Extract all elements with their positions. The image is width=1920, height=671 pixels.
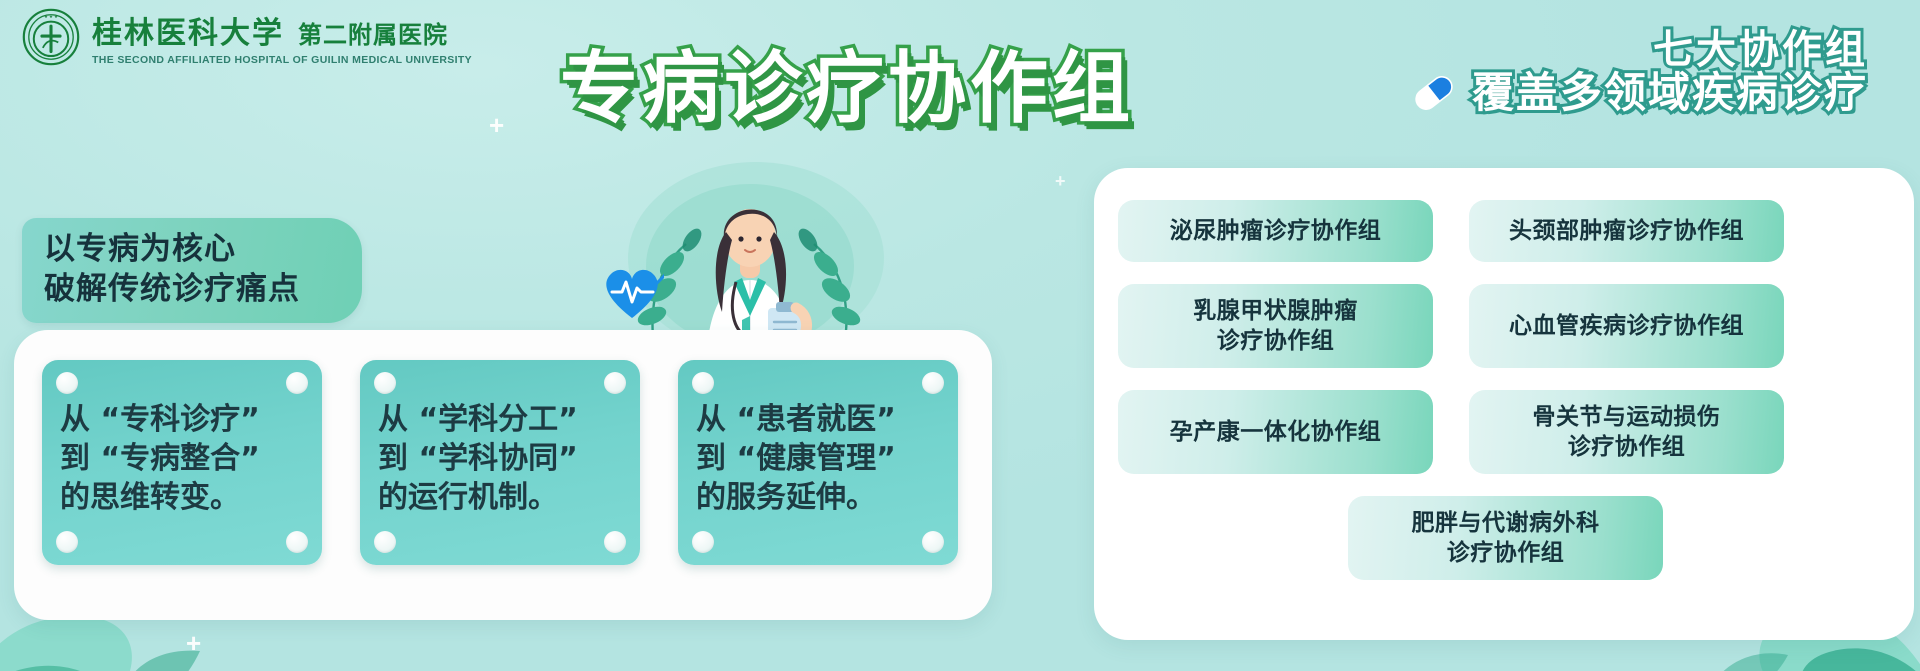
team-tag[interactable]: 肥胖与代谢病外科 诊疗协作组	[1348, 496, 1663, 580]
corner-screw-dot-icon	[604, 372, 626, 394]
plus-mark-icon-3: +	[1055, 172, 1066, 190]
concept-card[interactable]: 从 “学科分工” 到 “学科协同” 的运行机制。	[360, 360, 640, 565]
corner-screw-dot-icon	[56, 531, 78, 553]
corner-screw-dot-icon	[692, 372, 714, 394]
corner-screw-dot-icon	[374, 531, 396, 553]
slogan-line1: 以专病为核心	[44, 230, 300, 270]
concept-card-line3: 的思维转变。	[60, 478, 304, 517]
team-tag-label: 孕产康一体化协作组	[1170, 417, 1382, 447]
logo-name-sub: 第二附属医院	[298, 15, 448, 50]
team-tag[interactable]: 骨关节与运动损伤 诊疗协作组	[1469, 390, 1784, 474]
corner-screw-dot-icon	[922, 372, 944, 394]
team-tag-label: 头颈部肿瘤诊疗协作组	[1509, 216, 1744, 246]
right-heading: 七大协作组 覆盖多领域疾病诊疗	[1472, 30, 1868, 114]
corner-screw-dot-icon	[286, 372, 308, 394]
team-tag-label: 骨关节与运动损伤 诊疗协作组	[1533, 402, 1721, 463]
logo-name-en: THE SECOND AFFILIATED HOSPITAL OF GUILIN…	[92, 54, 472, 66]
team-tag[interactable]: 头颈部肿瘤诊疗协作组	[1469, 200, 1784, 262]
team-tag-grid: 泌尿肿瘤诊疗协作组 头颈部肿瘤诊疗协作组 乳腺甲状腺肿瘤 诊疗协作组 心血管疾病…	[1118, 200, 1892, 580]
slogan-banner: 以专病为核心 破解传统诊疗痛点	[22, 218, 362, 323]
team-tag-label: 乳腺甲状腺肿瘤 诊疗协作组	[1193, 296, 1358, 357]
concept-card-line1: 从 “专科诊疗”	[60, 400, 304, 439]
heart-ecg-icon	[600, 262, 664, 322]
concept-card-line3: 的服务延伸。	[696, 478, 940, 517]
concept-card-line1: 从 “患者就医”	[696, 400, 940, 439]
hospital-seal-icon: ★ ★ ★	[22, 8, 80, 66]
corner-screw-dot-icon	[604, 531, 626, 553]
team-tag[interactable]: 乳腺甲状腺肿瘤 诊疗协作组	[1118, 284, 1433, 368]
corner-screw-dot-icon	[56, 372, 78, 394]
right-heading-line1: 七大协作组	[1472, 30, 1868, 70]
right-heading-line2: 覆盖多领域疾病诊疗	[1472, 72, 1868, 114]
concept-card-line3: 的运行机制。	[378, 478, 622, 517]
svg-text:★ ★ ★: ★ ★ ★	[44, 14, 58, 19]
team-tag-label: 肥胖与代谢病外科 诊疗协作组	[1412, 508, 1600, 569]
corner-screw-dot-icon	[374, 372, 396, 394]
concept-card-line2: 到 “健康管理”	[696, 439, 940, 478]
slogan-line2: 破解传统诊疗痛点	[44, 270, 300, 310]
concept-card[interactable]: 从 “患者就医” 到 “健康管理” 的服务延伸。	[678, 360, 958, 565]
team-tag[interactable]: 泌尿肿瘤诊疗协作组	[1118, 200, 1433, 262]
corner-screw-dot-icon	[286, 531, 308, 553]
logo-name-main: 桂林医科大学	[92, 8, 284, 52]
page-title: 专病诊疗协作组	[560, 26, 1134, 138]
corner-screw-dot-icon	[922, 531, 944, 553]
hospital-logo: ★ ★ ★ 桂林医科大学 第二附属医院 THE SECOND AFFILIATE…	[22, 8, 472, 66]
team-tag-label: 泌尿肿瘤诊疗协作组	[1170, 216, 1382, 246]
team-tag[interactable]: 孕产康一体化协作组	[1118, 390, 1433, 474]
concept-card-line1: 从 “学科分工”	[378, 400, 622, 439]
concept-card-line2: 到 “专病整合”	[60, 439, 304, 478]
corner-screw-dot-icon	[692, 531, 714, 553]
plus-mark-icon-1: +	[489, 112, 504, 138]
plus-mark-icon-2: +	[186, 630, 201, 656]
concept-card-list: 从 “专科诊疗” 到 “专病整合” 的思维转变。 从 “学科分工” 到 “学科协…	[42, 360, 958, 565]
capsule-pill-icon	[1410, 76, 1458, 110]
team-tag[interactable]: 心血管疾病诊疗协作组	[1469, 284, 1784, 368]
poster-canvas: + + + ★ ★ ★ 桂林医科大学 第二附属医院 THE SECOND AFF…	[0, 0, 1920, 671]
team-tag-label: 心血管疾病诊疗协作组	[1509, 311, 1744, 341]
page-title-text: 专病诊疗协作组	[560, 44, 1134, 134]
concept-card-line2: 到 “学科协同”	[378, 439, 622, 478]
concept-card[interactable]: 从 “专科诊疗” 到 “专病整合” 的思维转变。	[42, 360, 322, 565]
